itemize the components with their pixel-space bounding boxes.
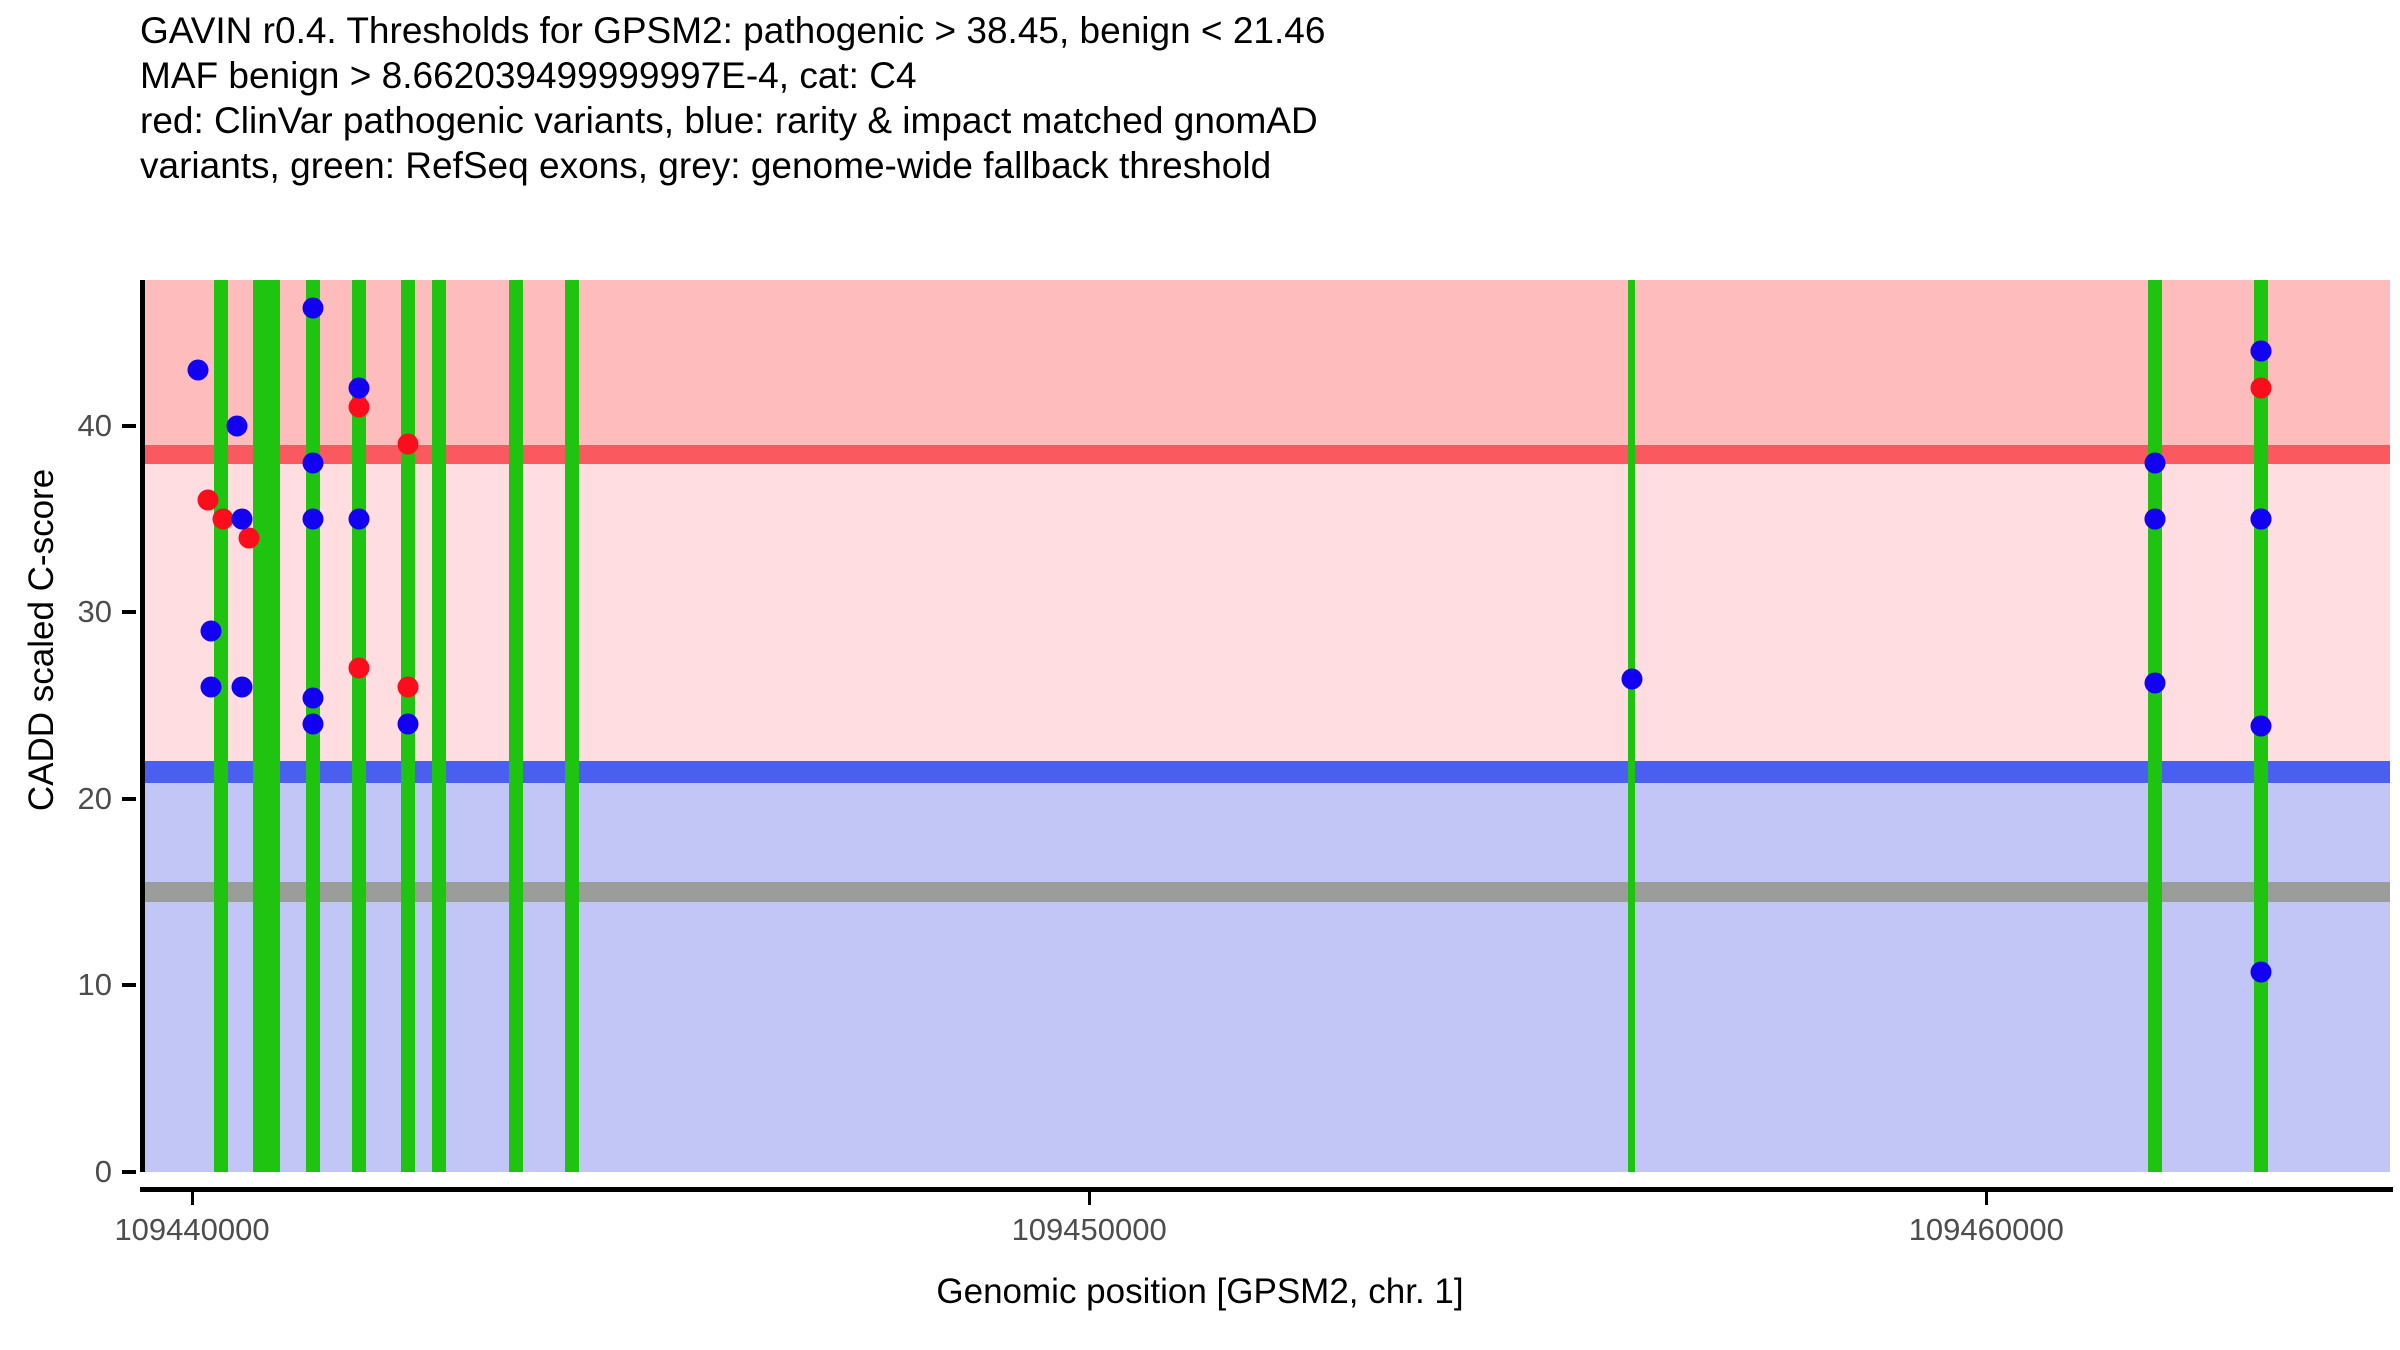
- y-axis-tick-label: 40: [78, 408, 112, 444]
- title-line-1: GAVIN r0.4. Thresholds for GPSM2: pathog…: [140, 8, 2340, 53]
- x-axis-tick: [191, 1192, 194, 1205]
- gnomad-variant-point: [2144, 673, 2165, 694]
- clinvar-pathogenic-point: [349, 396, 370, 417]
- pathogenic-zone-band: [145, 280, 2390, 454]
- benign-threshold-line: [145, 761, 2390, 783]
- gnomad-variant-point: [232, 676, 253, 697]
- gnomad-variant-point: [349, 378, 370, 399]
- gnomad-variant-point: [2251, 340, 2272, 361]
- gnomad-variant-point: [302, 297, 323, 318]
- refseq-exon-line: [214, 280, 228, 1172]
- clinvar-pathogenic-point: [2251, 378, 2272, 399]
- gnomad-variant-point: [2251, 962, 2272, 983]
- gnomad-variant-point: [302, 508, 323, 529]
- x-axis-tick-label: 109450000: [1012, 1212, 1167, 1248]
- gnomad-variant-point: [201, 676, 222, 697]
- y-axis-tick-label: 10: [78, 967, 112, 1003]
- refseq-exon-line: [565, 280, 579, 1172]
- gnomad-variant-point: [2251, 716, 2272, 737]
- x-axis-tick-label: 109460000: [1909, 1212, 2064, 1248]
- refseq-exon-line: [432, 280, 446, 1172]
- gnomad-variant-point: [201, 620, 222, 641]
- gnomad-variant-point: [302, 714, 323, 735]
- gnomad-variant-point: [1621, 669, 1642, 690]
- y-axis-tick-label: 20: [78, 781, 112, 817]
- plot-area: [140, 280, 2390, 1172]
- refseq-exon-line: [1628, 280, 1635, 1172]
- title-line-2: MAF benign > 8.662039499999997E-4, cat: …: [140, 53, 2340, 98]
- gnomad-variant-point: [2144, 452, 2165, 473]
- y-axis-title: CADD scaled C-score: [22, 290, 62, 990]
- gnomad-variant-point: [2144, 508, 2165, 529]
- x-axis-tick: [1985, 1192, 1988, 1205]
- x-axis-line: [140, 1187, 2393, 1192]
- refseq-exon-line: [2148, 280, 2162, 1172]
- clinvar-pathogenic-point: [212, 508, 233, 529]
- benign-zone-band: [145, 772, 2390, 1172]
- y-axis-tick: [122, 797, 136, 801]
- clinvar-pathogenic-point: [198, 490, 219, 511]
- chart-title-block: GAVIN r0.4. Thresholds for GPSM2: pathog…: [140, 8, 2340, 188]
- title-line-3: red: ClinVar pathogenic variants, blue: …: [140, 98, 2340, 143]
- refseq-exon-line: [253, 280, 267, 1172]
- x-axis-title: Genomic position [GPSM2, chr. 1]: [0, 1272, 2400, 1312]
- y-axis-tick-label: 0: [95, 1154, 112, 1190]
- clinvar-pathogenic-point: [349, 658, 370, 679]
- y-axis-tick: [122, 1170, 136, 1174]
- pathogenic-threshold-line: [145, 445, 2390, 464]
- gnomad-variant-point: [2251, 508, 2272, 529]
- gnomad-variant-point: [398, 714, 419, 735]
- title-line-4: variants, green: RefSeq exons, grey: gen…: [140, 143, 2340, 188]
- gnomad-variant-point: [188, 359, 209, 380]
- plot-panel: [145, 280, 2390, 1172]
- refseq-exon-line: [509, 280, 523, 1172]
- x-axis-tick-label: 109440000: [114, 1212, 269, 1248]
- y-axis-tick: [122, 424, 136, 428]
- gnomad-variant-point: [349, 508, 370, 529]
- gnomad-variant-point: [226, 415, 247, 436]
- y-axis-tick: [122, 983, 136, 987]
- clinvar-pathogenic-point: [398, 434, 419, 455]
- y-axis-tick-label: 30: [78, 594, 112, 630]
- gnomad-variant-point: [302, 452, 323, 473]
- gnomad-variant-point: [302, 688, 323, 709]
- clinvar-pathogenic-point: [398, 676, 419, 697]
- gnomad-variant-point: [232, 508, 253, 529]
- refseq-exon-line: [266, 280, 280, 1172]
- clinvar-pathogenic-point: [238, 527, 259, 548]
- y-axis-tick: [122, 610, 136, 614]
- intermediate-zone-band: [145, 454, 2390, 771]
- fallback-threshold-line: [145, 882, 2390, 902]
- x-axis-tick: [1088, 1192, 1091, 1205]
